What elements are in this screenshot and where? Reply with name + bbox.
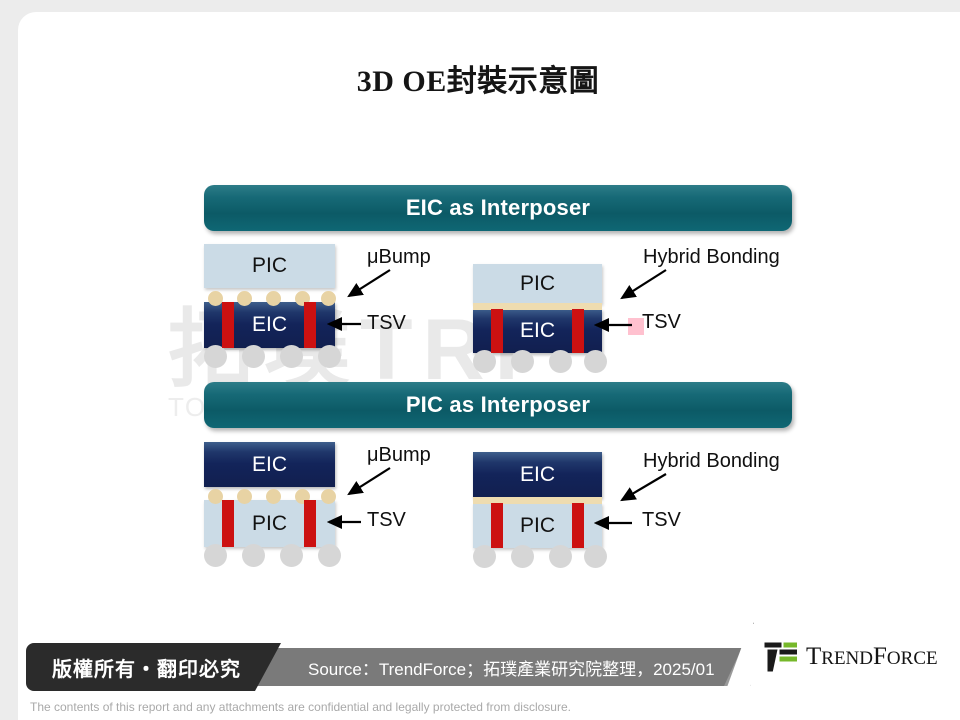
trendforce-logo-text: TRENDFORCE xyxy=(806,643,938,671)
callout-tsv-s2a: TSV xyxy=(367,509,406,532)
die-label: EIC xyxy=(252,313,287,337)
solder-ball xyxy=(549,545,572,568)
die-eic-s2b: EIC xyxy=(473,452,602,498)
section-banner-label: PIC as Interposer xyxy=(406,392,590,418)
tsv-bar xyxy=(572,503,584,548)
section-banner-eic-as-interposer: EIC as Interposer xyxy=(204,185,792,231)
diagram-area: EIC as Interposer PIC EIC μBump TSV PIC xyxy=(18,12,960,652)
callout-tsv-s2b: TSV xyxy=(642,509,681,532)
microbump xyxy=(266,291,281,306)
solder-ball xyxy=(584,545,607,568)
section-banner-pic-as-interposer: PIC as Interposer xyxy=(204,382,792,428)
solder-ball xyxy=(473,350,496,373)
copyright-tab: 版權所有・翻印必究 xyxy=(26,643,255,691)
logo-rest-orce: ORCE xyxy=(887,648,938,669)
solder-ball xyxy=(511,350,534,373)
solder-ball xyxy=(280,345,303,368)
microbump xyxy=(321,291,336,306)
tsv-bar xyxy=(222,500,234,547)
solder-ball xyxy=(318,345,341,368)
slide-canvas: 3D OE封裝示意圖 拓墣TRI TOPOLOGY RESEARCH INSTI… xyxy=(18,12,960,720)
die-label: PIC xyxy=(520,272,555,296)
die-pic-s2a: PIC xyxy=(204,500,335,547)
solder-ball xyxy=(473,545,496,568)
solder-ball xyxy=(318,544,341,567)
callout-bonding-s2b: Hybrid Bonding xyxy=(643,450,780,473)
solder-ball xyxy=(549,350,572,373)
die-pic-s2b: PIC xyxy=(473,503,602,548)
tsv-bar xyxy=(491,503,503,548)
tsv-bar xyxy=(304,302,316,348)
die-label: EIC xyxy=(520,319,555,343)
tsv-bar xyxy=(304,500,316,547)
die-eic-s2a: EIC xyxy=(204,442,335,487)
die-label: EIC xyxy=(520,463,555,487)
solder-ball xyxy=(511,545,534,568)
die-label: PIC xyxy=(252,254,287,278)
die-pic-s1a: PIC xyxy=(204,244,335,288)
solder-ball xyxy=(242,544,265,567)
disclaimer-text: The contents of this report and any atta… xyxy=(30,700,571,714)
logo-lead-f: F xyxy=(873,643,887,670)
trendforce-logo-mark xyxy=(764,642,798,672)
microbump xyxy=(237,489,252,504)
microbump xyxy=(208,489,223,504)
section-banner-label: EIC as Interposer xyxy=(406,195,590,221)
pink-artifact xyxy=(628,318,644,335)
callout-bonding-s1a: μBump xyxy=(367,246,431,269)
microbump xyxy=(321,489,336,504)
solder-ball xyxy=(204,345,227,368)
die-eic-s1a: EIC xyxy=(204,302,335,348)
footer: Source：TrendForce；拓璞產業研究院整理，2025/01 版權所有… xyxy=(18,630,960,720)
tsv-bar xyxy=(572,309,584,353)
microbump xyxy=(266,489,281,504)
solder-ball xyxy=(280,544,303,567)
die-label: EIC xyxy=(252,453,287,477)
solder-ball xyxy=(242,345,265,368)
solder-ball xyxy=(204,544,227,567)
callout-bonding-s2a: μBump xyxy=(367,444,431,467)
tsv-bar xyxy=(491,309,503,353)
copyright-text: 版權所有・翻印必究 xyxy=(52,653,241,682)
microbump xyxy=(237,291,252,306)
die-eic-s1b: EIC xyxy=(473,309,602,353)
die-label: PIC xyxy=(252,512,287,536)
die-label: PIC xyxy=(520,514,555,538)
callout-tsv-s1a: TSV xyxy=(367,312,406,335)
microbump xyxy=(208,291,223,306)
source-text: Source：TrendForce；拓璞產業研究院整理，2025/01 xyxy=(308,655,715,680)
callout-bonding-s1b: Hybrid Bonding xyxy=(643,246,780,269)
trendforce-logo: TRENDFORCE xyxy=(750,624,960,690)
logo-lead-t: T xyxy=(806,643,821,670)
die-pic-s1b: PIC xyxy=(473,264,602,304)
solder-ball xyxy=(584,350,607,373)
callout-tsv-s1b: TSV xyxy=(642,311,681,334)
logo-rest-rend: REND xyxy=(821,648,873,669)
tsv-bar xyxy=(222,302,234,348)
